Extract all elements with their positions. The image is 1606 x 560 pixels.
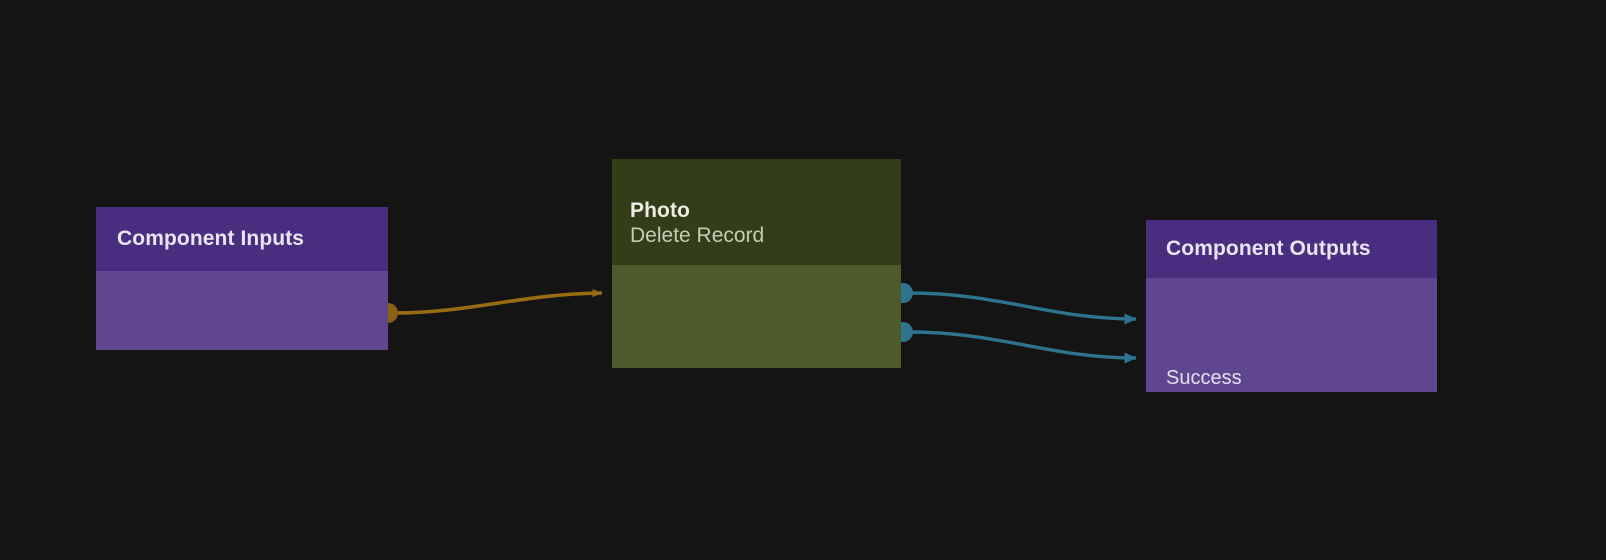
node-header: Photo Delete Record <box>612 159 901 265</box>
edge-failure-path <box>909 332 1136 358</box>
edge-success-path <box>909 293 1136 319</box>
node-title: Component Outputs <box>1166 237 1437 261</box>
node-photo-delete-record[interactable]: Photo Delete Record Do Success Failure <box>612 159 901 368</box>
node-header: Component Inputs <box>96 207 388 271</box>
port-input-success[interactable]: Success <box>1166 368 1242 388</box>
node-body: Success Failure <box>1146 278 1437 392</box>
node-subtitle: Delete Record <box>630 224 901 248</box>
node-graph-canvas[interactable]: Component Inputs Do Photo Delete Record … <box>0 0 1606 560</box>
node-header: Component Outputs <box>1146 220 1437 278</box>
node-component-inputs[interactable]: Component Inputs Do <box>96 207 388 350</box>
edge-do-path <box>394 293 602 313</box>
node-title: Photo <box>630 199 901 223</box>
node-body: Do <box>96 271 388 350</box>
node-title: Component Inputs <box>117 227 388 251</box>
node-component-outputs[interactable]: Component Outputs Success Failure <box>1146 220 1437 392</box>
node-body: Do Success Failure <box>612 265 901 368</box>
